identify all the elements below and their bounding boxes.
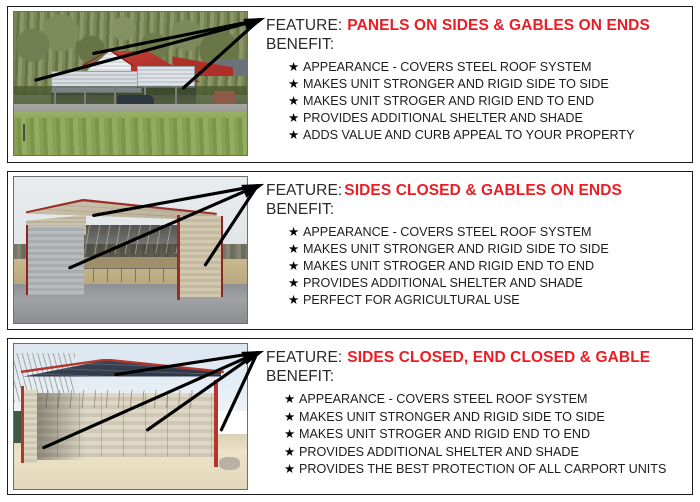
comparison-sheet: FEATURE: PANELS ON SIDES & GABLES ON END… bbox=[0, 0, 700, 502]
star-icon: ★ bbox=[288, 110, 303, 127]
feature-line: FEATURE: SIDES CLOSED & GABLES ON ENDS bbox=[266, 182, 686, 200]
benefit-item: ★PROVIDES ADDITIONAL SHELTER AND SHADE bbox=[288, 275, 686, 292]
feature-value: SIDES CLOSED, END CLOSED & GABLE bbox=[347, 349, 650, 367]
feature-line: FEATURE: PANELS ON SIDES & GABLES ON END… bbox=[266, 17, 686, 35]
benefit-item: ★PROVIDES THE BEST PROTECTION OF ALL CAR… bbox=[284, 461, 686, 479]
star-icon: ★ bbox=[288, 292, 303, 309]
star-icon: ★ bbox=[284, 426, 299, 444]
side-wall-closed-left bbox=[23, 390, 37, 463]
carport-photo-2-image bbox=[14, 177, 247, 323]
star-icon: ★ bbox=[288, 76, 303, 93]
carport-photo-3-image bbox=[14, 344, 247, 489]
feature-text-2: FEATURE: SIDES CLOSED & GABLES ON ENDS B… bbox=[248, 172, 692, 309]
mailbox-post bbox=[23, 124, 25, 141]
roof-trusses bbox=[79, 225, 182, 254]
benefit-item: ★PROVIDES ADDITIONAL SHELTER AND SHADE bbox=[288, 110, 686, 127]
benefit-list-3: ★APPEARANCE - COVERS STEEL ROOF SYSTEM ★… bbox=[266, 391, 686, 479]
star-icon: ★ bbox=[284, 391, 299, 409]
feature-value: PANELS ON SIDES & GABLES ON ENDS bbox=[347, 17, 650, 35]
benefit-text: PERFECT FOR AGRICULTURAL USE bbox=[303, 292, 520, 309]
star-icon: ★ bbox=[288, 275, 303, 292]
carport-photo-2 bbox=[13, 176, 248, 324]
benefit-text: PROVIDES ADDITIONAL SHELTER AND SHADE bbox=[303, 110, 583, 127]
corner-post-trim-right bbox=[214, 380, 218, 467]
star-icon: ★ bbox=[288, 241, 303, 258]
benefit-item: ★MAKES UNIT STROGER AND RIGID END TO END bbox=[288, 258, 686, 275]
feature-label: FEATURE: bbox=[266, 349, 342, 367]
benefit-item: ★PERFECT FOR AGRICULTURAL USE bbox=[288, 292, 686, 309]
feature-text-3: FEATURE: SIDES CLOSED, END CLOSED & GABL… bbox=[248, 339, 692, 479]
benefit-item: ★APPEARANCE - COVERS STEEL ROOF SYSTEM bbox=[288, 224, 686, 241]
benefit-item: ★ADDS VALUE AND CURB APPEAL TO YOUR PROP… bbox=[288, 127, 686, 144]
star-icon: ★ bbox=[288, 59, 303, 76]
benefit-text: MAKES UNIT STROGER AND RIGID END TO END bbox=[303, 93, 594, 110]
side-wall-closed-left bbox=[26, 225, 84, 295]
benefit-item: ★MAKES UNIT STRONGER AND RIGID SIDE TO S… bbox=[288, 76, 686, 93]
carport-photo-1-image bbox=[14, 12, 247, 155]
feature-text-1: FEATURE: PANELS ON SIDES & GABLES ON END… bbox=[248, 7, 692, 144]
benefit-label: BENEFIT: bbox=[266, 201, 686, 219]
side-wall-closed-right bbox=[179, 216, 223, 296]
benefit-text: MAKES UNIT STROGER AND RIGID END TO END bbox=[303, 258, 594, 275]
benefit-label: BENEFIT: bbox=[266, 368, 686, 386]
benefit-text: ADDS VALUE AND CURB APPEAL TO YOUR PROPE… bbox=[303, 127, 635, 144]
benefit-text: APPEARANCE - COVERS STEEL ROOF SYSTEM bbox=[303, 224, 592, 241]
feature-value: SIDES CLOSED & GABLES ON ENDS bbox=[344, 182, 622, 200]
feature-label: FEATURE: bbox=[266, 182, 342, 200]
benefit-text: PROVIDES ADDITIONAL SHELTER AND SHADE bbox=[299, 444, 579, 462]
interior-shadow bbox=[35, 393, 86, 460]
star-icon: ★ bbox=[288, 127, 303, 144]
benefit-text: MAKES UNIT STRONGER AND RIGID SIDE TO SI… bbox=[303, 76, 609, 93]
benefit-text: MAKES UNIT STRONGER AND RIGID SIDE TO SI… bbox=[299, 409, 605, 427]
benefit-item: ★MAKES UNIT STRONGER AND RIGID SIDE TO S… bbox=[288, 241, 686, 258]
benefit-list-2: ★APPEARANCE - COVERS STEEL ROOF SYSTEM ★… bbox=[266, 224, 686, 309]
benefit-text: APPEARANCE - COVERS STEEL ROOF SYSTEM bbox=[299, 391, 588, 409]
side-panel bbox=[137, 66, 195, 88]
benefit-label: BENEFIT: bbox=[266, 36, 686, 54]
benefit-text: MAKES UNIT STRONGER AND RIGID SIDE TO SI… bbox=[303, 241, 609, 258]
feature-line: FEATURE: SIDES CLOSED, END CLOSED & GABL… bbox=[266, 349, 686, 367]
foreground-rock bbox=[219, 457, 240, 470]
star-icon: ★ bbox=[284, 461, 299, 479]
benefit-item: ★PROVIDES ADDITIONAL SHELTER AND SHADE bbox=[284, 444, 686, 462]
corner-post-trim bbox=[177, 215, 180, 300]
benefit-list-1: ★APPEARANCE - COVERS STEEL ROOF SYSTEM ★… bbox=[266, 59, 686, 144]
carport-photo-3 bbox=[13, 343, 248, 490]
benefit-text: PROVIDES ADDITIONAL SHELTER AND SHADE bbox=[303, 275, 583, 292]
star-icon: ★ bbox=[284, 409, 299, 427]
benefit-text: APPEARANCE - COVERS STEEL ROOF SYSTEM bbox=[303, 59, 592, 76]
star-icon: ★ bbox=[284, 444, 299, 462]
benefit-item: ★MAKES UNIT STROGER AND RIGID END TO END bbox=[284, 426, 686, 444]
benefit-item: ★APPEARANCE - COVERS STEEL ROOF SYSTEM bbox=[284, 391, 686, 409]
benefit-item: ★APPEARANCE - COVERS STEEL ROOF SYSTEM bbox=[288, 59, 686, 76]
benefit-text: MAKES UNIT STROGER AND RIGID END TO END bbox=[299, 426, 590, 444]
grass-foreground bbox=[14, 118, 247, 155]
benefit-item: ★MAKES UNIT STROGER AND RIGID END TO END bbox=[288, 93, 686, 110]
benefit-item: ★MAKES UNIT STRONGER AND RIGID SIDE TO S… bbox=[284, 409, 686, 427]
feature-panel-panels-on-sides: FEATURE: PANELS ON SIDES & GABLES ON END… bbox=[7, 6, 693, 163]
benefit-text: PROVIDES THE BEST PROTECTION OF ALL CARP… bbox=[299, 461, 666, 479]
feature-panel-sides-closed-gables-on-ends: FEATURE: SIDES CLOSED & GABLES ON ENDS B… bbox=[7, 171, 693, 330]
star-icon: ★ bbox=[288, 258, 303, 275]
corner-post-trim-left bbox=[21, 386, 24, 463]
carport-photo-1 bbox=[13, 11, 248, 156]
feature-panel-sides-closed-end-closed-gable: FEATURE: SIDES CLOSED, END CLOSED & GABL… bbox=[7, 338, 693, 495]
star-icon: ★ bbox=[288, 224, 303, 241]
star-icon: ★ bbox=[288, 93, 303, 110]
feature-label: FEATURE: bbox=[266, 17, 342, 35]
